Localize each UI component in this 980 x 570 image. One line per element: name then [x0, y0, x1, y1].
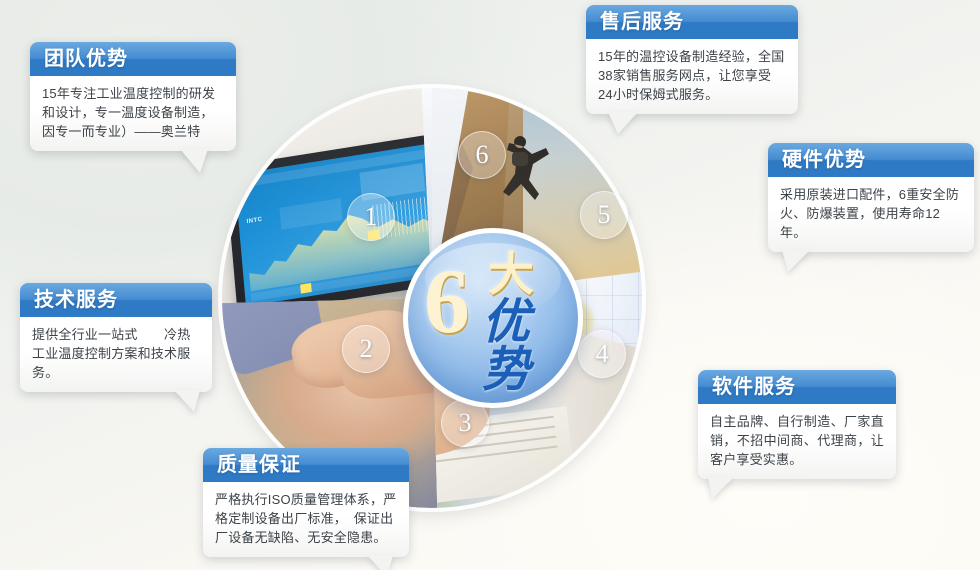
callout-tail-software — [708, 477, 734, 499]
card-title-after-sale: 售后服务 — [586, 5, 798, 39]
callout-tail-hardware — [782, 250, 810, 272]
stock-line-chart — [245, 192, 439, 292]
callout-card-team[interactable]: 团队优势 15年专注工业温度控制的研发和设计，专一温度设备制造，因专一而专业）—… — [30, 42, 236, 151]
badge-number: 6 — [424, 255, 470, 347]
card-body-after-sale: 15年的温控设备制造经验，全国38家销售服务网点，让您享受24小时保姆式服务。 — [586, 39, 798, 114]
card-body-tech: 提供全行业一站式 冷热工业温度控制方案和技术服务。 — [20, 317, 212, 392]
card-title-software: 软件服务 — [698, 370, 896, 404]
badge-word: 优势 — [482, 299, 578, 395]
callout-tail-after-sale — [608, 112, 638, 134]
card-body-hardware: 采用原装进口配件，6重安全防火、防爆装置，使用寿命12年。 — [768, 177, 974, 252]
callout-card-quality[interactable]: 质量保证 严格执行ISO质量管理体系，严格定制设备出厂标准， 保证出厂设备无缺陷… — [203, 448, 409, 557]
card-title-hardware: 硬件优势 — [768, 143, 974, 177]
card-body-quality: 严格执行ISO质量管理体系，严格定制设备出厂标准， 保证出厂设备无缺陷、无安全隐… — [203, 482, 409, 557]
badge-unit: 大 — [488, 251, 534, 297]
card-body-team: 15年专注工业温度控制的研发和设计，专一温度设备制造，因专一而专业）——奥兰特 — [30, 76, 236, 151]
chart-area-line — [245, 192, 439, 292]
callout-card-software[interactable]: 软件服务 自主品牌、自行制造、厂家直销，不招中间商、代理商，让客户享受实惠。 — [698, 370, 896, 479]
callout-tail-tech — [174, 390, 200, 412]
callout-card-after-sale[interactable]: 售后服务 15年的温控设备制造经验，全国38家销售服务网点，让您享受24小时保姆… — [586, 5, 798, 114]
callout-card-tech[interactable]: 技术服务 提供全行业一站式 冷热工业温度控制方案和技术服务。 — [20, 283, 212, 392]
callout-tail-team — [180, 149, 208, 173]
card-title-team: 团队优势 — [30, 42, 236, 76]
center-badge: 6 大 优势 — [403, 228, 583, 408]
segment-number-6[interactable]: 6 — [458, 131, 506, 179]
segment-number-1[interactable]: 1 — [347, 193, 395, 241]
segment-number-5[interactable]: 5 — [580, 191, 628, 239]
segment-number-4[interactable]: 4 — [578, 330, 626, 378]
card-body-software: 自主品牌、自行制造、厂家直销，不招中间商、代理商，让客户享受实惠。 — [698, 404, 896, 479]
card-title-tech: 技术服务 — [20, 283, 212, 317]
segment-number-2[interactable]: 2 — [342, 325, 390, 373]
callout-card-hardware[interactable]: 硬件优势 采用原装进口配件，6重安全防火、防爆装置，使用寿命12年。 — [768, 143, 974, 252]
infographic-canvas: INTC — [0, 0, 980, 570]
callout-tail-quality — [367, 555, 393, 570]
card-title-quality: 质量保证 — [203, 448, 409, 482]
